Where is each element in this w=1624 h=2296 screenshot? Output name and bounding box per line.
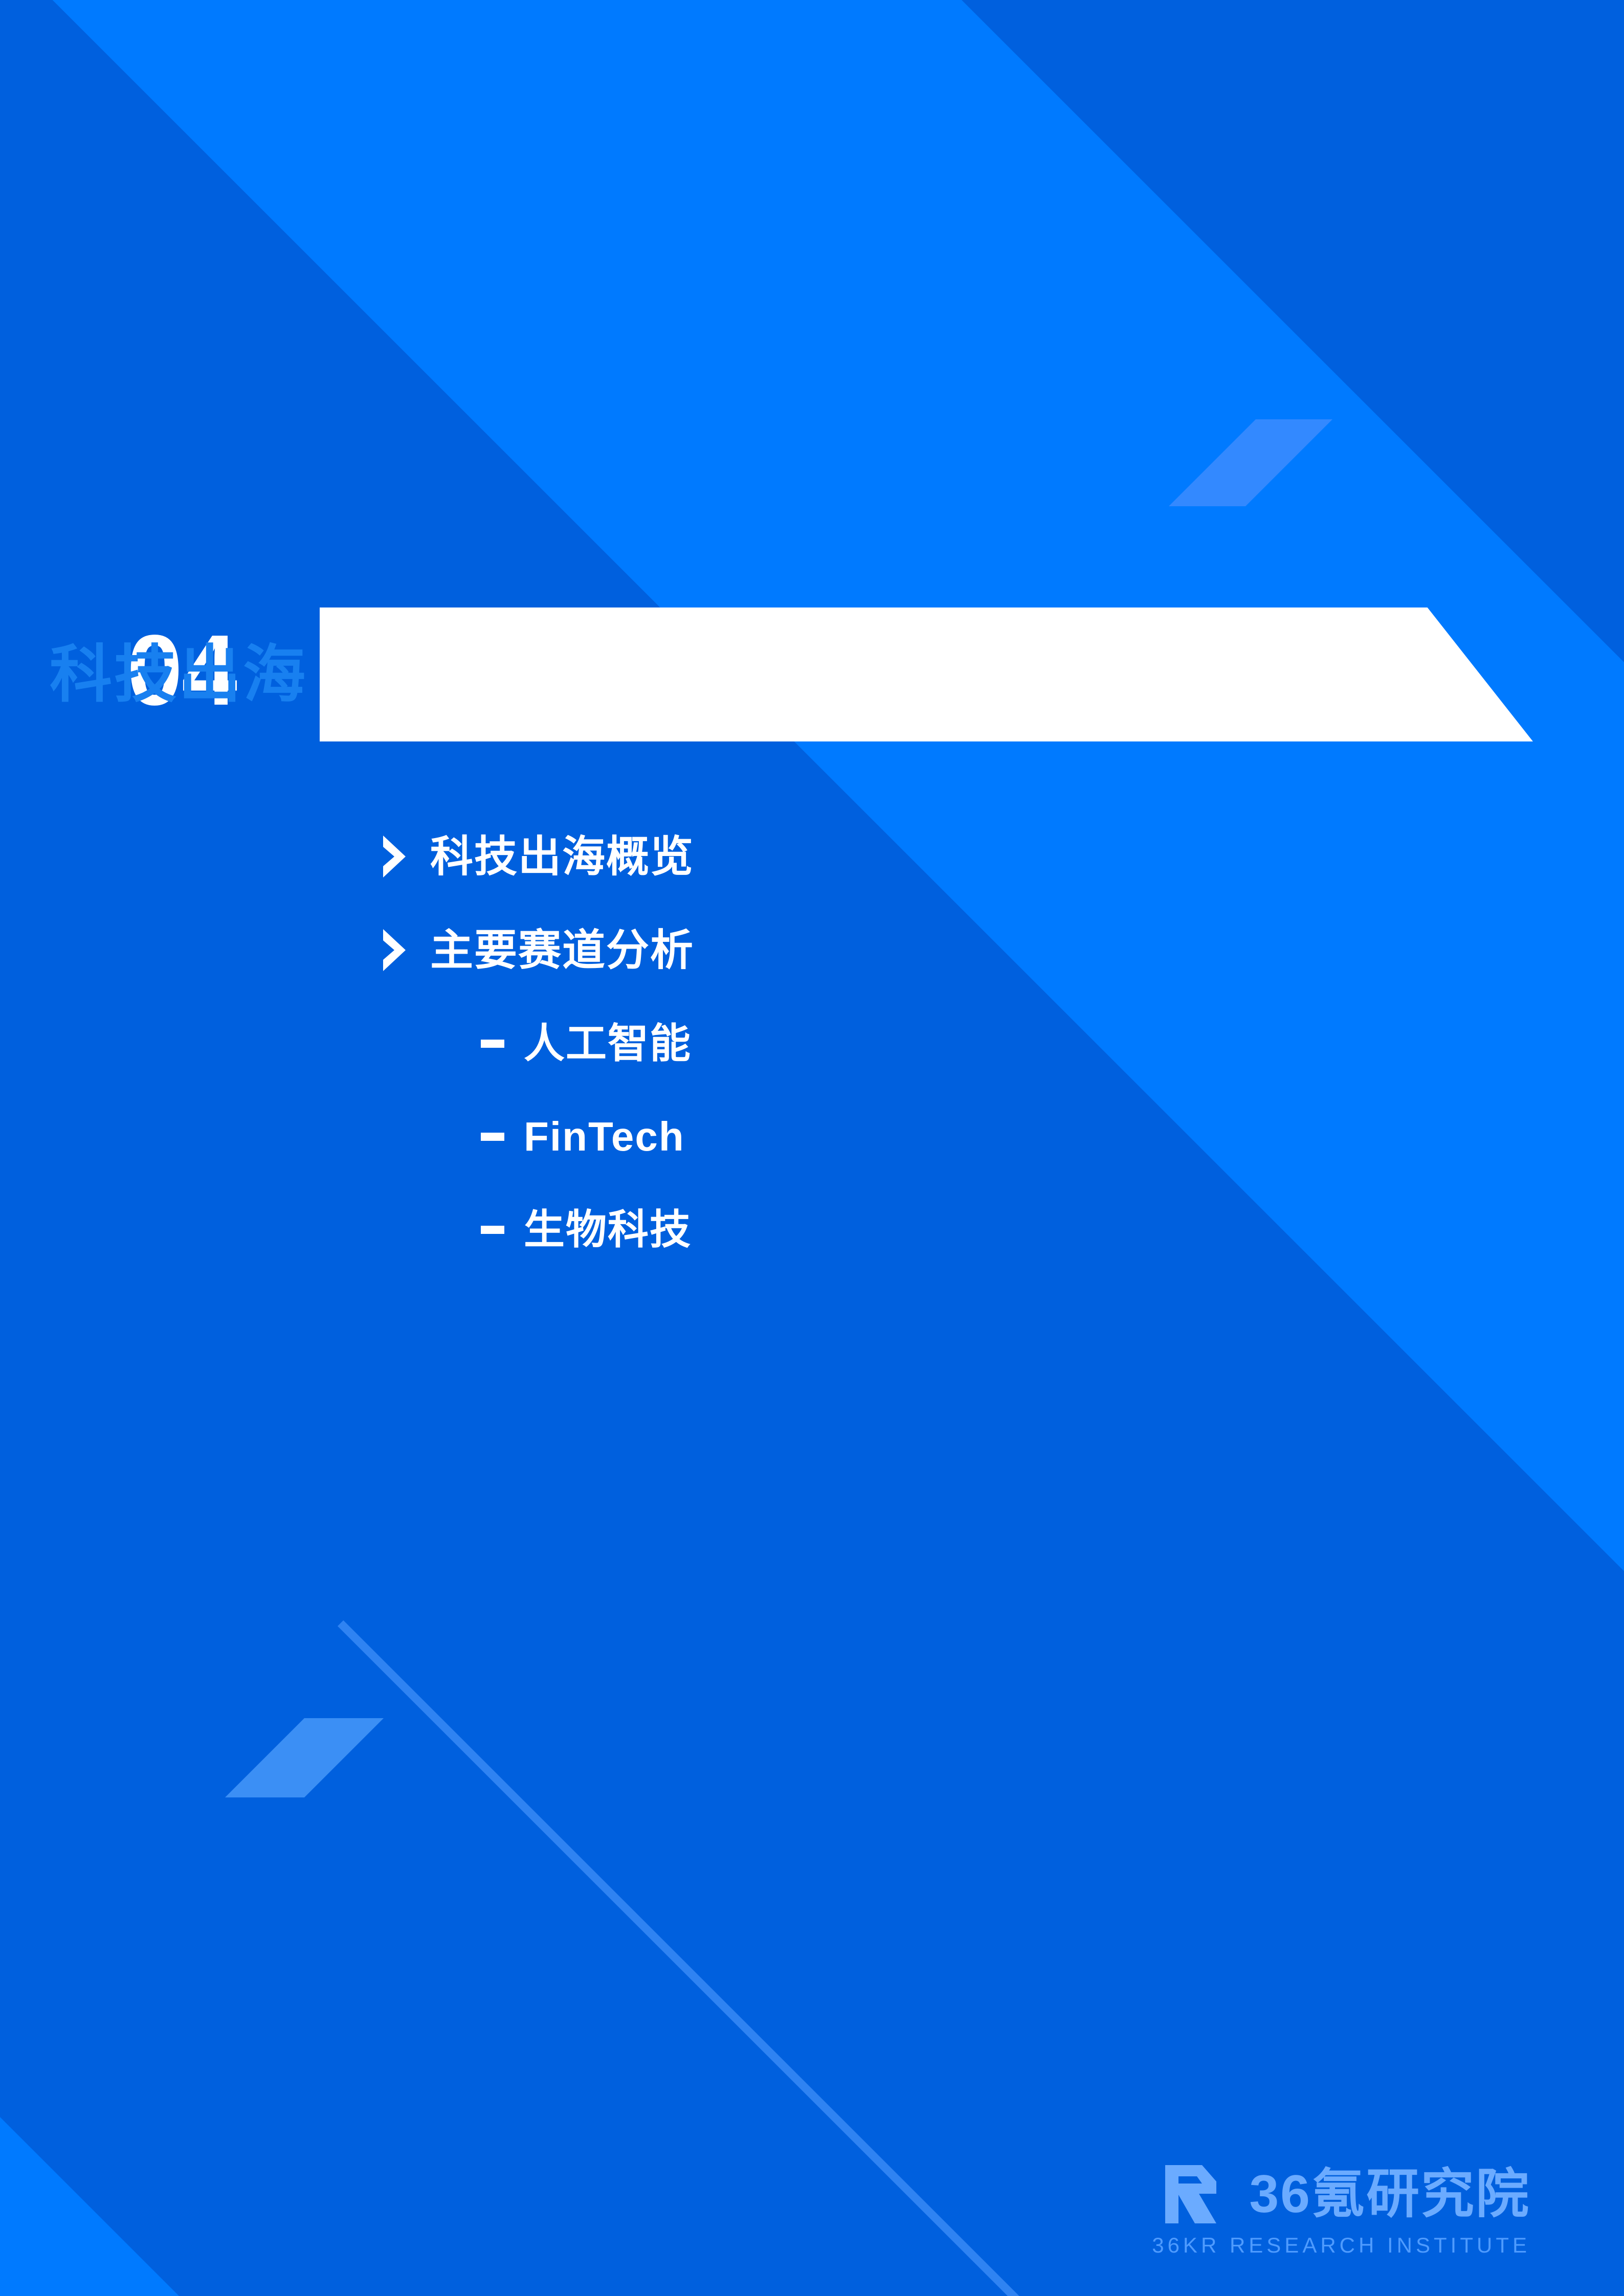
logo-chinese-name: 36氪研究院 bbox=[1249, 2168, 1530, 2221]
section-header: 04 科技出海 bbox=[0, 607, 1624, 741]
title-banner bbox=[320, 607, 1533, 741]
outline-item-track-analysis[interactable]: 主要赛道分析 bbox=[0, 919, 1624, 981]
dash-icon bbox=[481, 1040, 504, 1048]
outline-subitem-fintech[interactable]: FinTech bbox=[0, 1106, 1624, 1167]
outline-subitem-label: 人工智能 bbox=[524, 1023, 692, 1064]
36kr-r-mark-icon bbox=[1163, 2164, 1229, 2224]
brand-logo: 36氪研究院 36KR RESEARCH INSTITUTE bbox=[1152, 2164, 1530, 2256]
parallelogram-accent-top-right bbox=[1169, 419, 1332, 506]
chevron-right-icon bbox=[381, 929, 411, 971]
outline-list: 科技出海概览 主要赛道分析 人工智能 FinTech 生物科技 bbox=[0, 826, 1624, 1292]
outline-subitem-biotech[interactable]: 生物科技 bbox=[0, 1199, 1624, 1260]
logo-english-name: 36KR RESEARCH INSTITUTE bbox=[1152, 2235, 1530, 2256]
diagonal-hairline-top-right bbox=[1289, 0, 1624, 517]
diagonal-hairline-bottom-left bbox=[338, 1620, 1067, 2296]
outline-subitem-label: 生物科技 bbox=[524, 1209, 692, 1250]
outline-item-label: 科技出海概览 bbox=[430, 835, 694, 878]
logo-row: 36氪研究院 bbox=[1152, 2164, 1530, 2224]
outline-item-label: 主要赛道分析 bbox=[430, 929, 694, 972]
chevron-right-icon bbox=[381, 836, 411, 877]
diagonal-band-dark-primary bbox=[246, 0, 1624, 1598]
outline-item-overview[interactable]: 科技出海概览 bbox=[0, 826, 1624, 887]
parallelogram-accent-bottom-left bbox=[225, 1718, 384, 1797]
outline-subitem-ai[interactable]: 人工智能 bbox=[0, 1013, 1624, 1074]
page-title: 科技出海 bbox=[50, 607, 307, 741]
outline-subitem-label: FinTech bbox=[524, 1116, 685, 1157]
slide-page: 04 科技出海 科技出海概览 主要赛道分析 人工智能 FinTech bbox=[0, 0, 1624, 2296]
dash-icon bbox=[481, 1226, 504, 1234]
dash-icon bbox=[481, 1133, 504, 1141]
